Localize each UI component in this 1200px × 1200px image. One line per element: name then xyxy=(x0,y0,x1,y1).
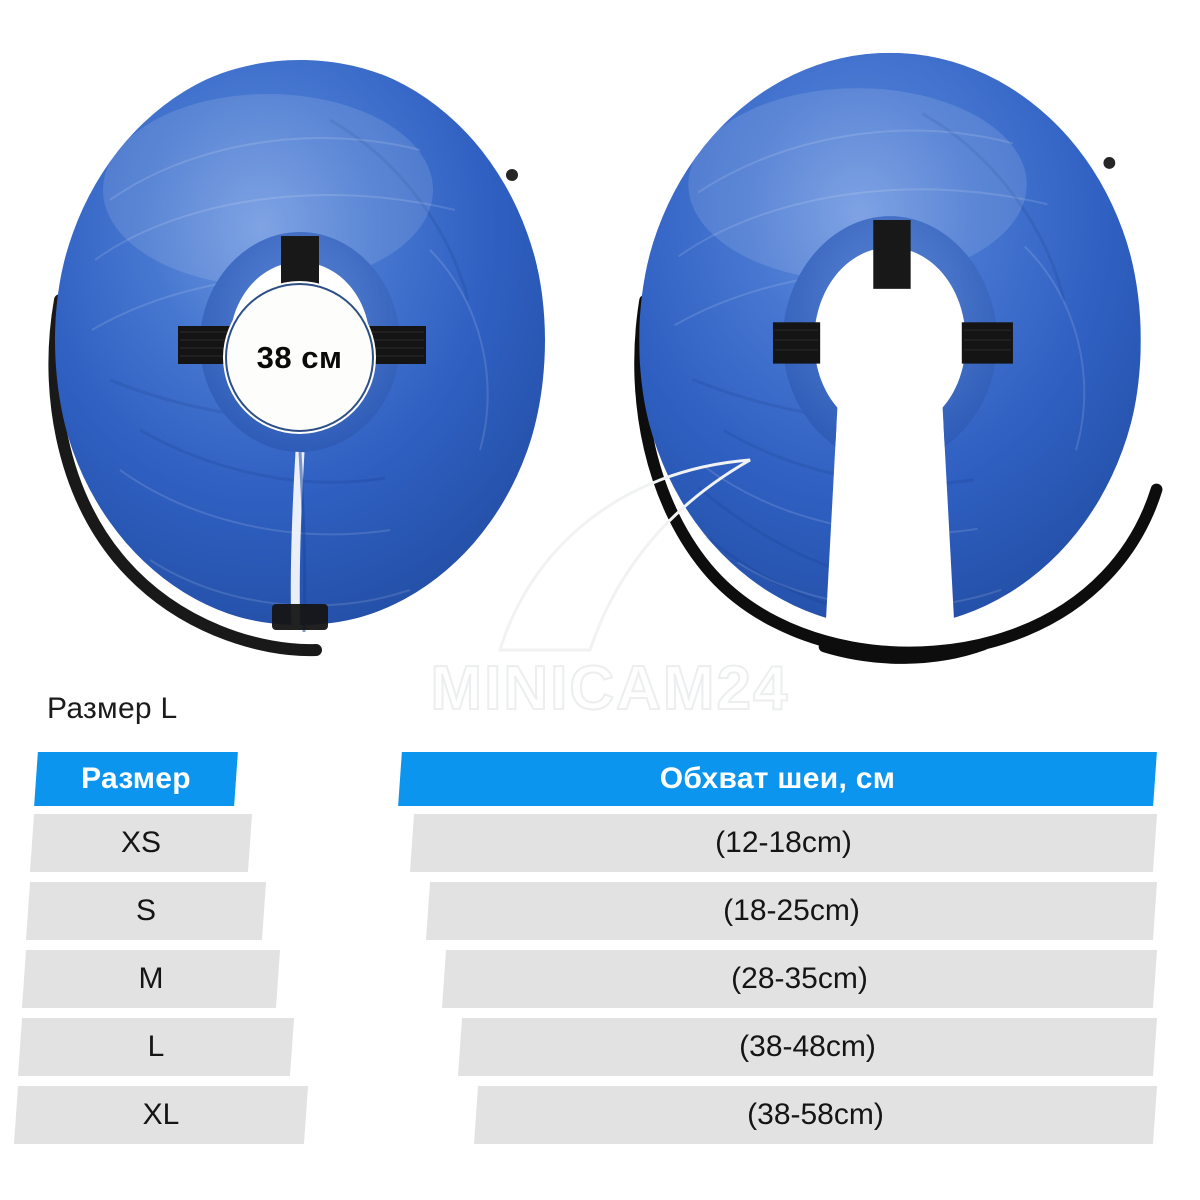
header-label-neck: Обхват шеи, см xyxy=(660,762,895,796)
velcro-strap-right xyxy=(962,322,1013,363)
row-cell-neck: (28-35cm) xyxy=(444,950,1155,1008)
header-label-size: Размер xyxy=(81,762,191,796)
table-row: L (38-48cm) xyxy=(0,1018,1200,1076)
header-cell-neck: Обхват шеи, см xyxy=(400,752,1155,806)
air-valve-icon xyxy=(1103,157,1115,169)
cell-value-neck: (28-35cm) xyxy=(731,962,868,996)
cell-value-size: XL xyxy=(143,1098,180,1132)
velcro-strap-bottom xyxy=(272,604,328,630)
row-cell-neck: (18-25cm) xyxy=(428,882,1155,940)
collar-body xyxy=(638,53,1142,627)
velcro-strap-left xyxy=(773,322,820,363)
measurement-badge-left: 38 см xyxy=(225,283,374,432)
row-cell-size: XL xyxy=(16,1086,306,1144)
row-cell-neck: (38-48cm) xyxy=(460,1018,1155,1076)
cell-value-size: M xyxy=(139,962,164,996)
row-cell-size: M xyxy=(24,950,278,1008)
air-valve-icon xyxy=(506,169,518,181)
row-cell-size: S xyxy=(28,882,264,940)
row-cell-neck: (12-18cm) xyxy=(412,814,1155,872)
cell-value-neck: (38-58cm) xyxy=(747,1098,884,1132)
table-header-row: Размер Обхват шеи, см xyxy=(0,752,1200,806)
table-row: M (28-35cm) xyxy=(0,950,1200,1008)
table-row: XL (38-58cm) xyxy=(0,1086,1200,1144)
cell-value-size: L xyxy=(148,1030,165,1064)
size-chart-table: Размер Обхват шеи, см XS (12-18cm) S (18… xyxy=(0,752,1200,1164)
product-image-right: 48см xyxy=(590,0,1190,680)
table-row: XS (12-18cm) xyxy=(0,814,1200,872)
size-section-title: Размер L xyxy=(47,692,178,726)
row-cell-neck: (38-58cm) xyxy=(476,1086,1155,1144)
cell-value-neck: (12-18cm) xyxy=(715,826,852,860)
table-row: S (18-25cm) xyxy=(0,882,1200,940)
cell-value-size: S xyxy=(136,894,156,928)
product-photo-area: 38 см xyxy=(0,0,1200,680)
header-cell-size: Размер xyxy=(36,752,236,806)
product-image-left: 38 см xyxy=(0,0,600,680)
collar-open-illustration xyxy=(590,0,1190,680)
cell-value-neck: (18-25cm) xyxy=(723,894,860,928)
row-cell-size: XS xyxy=(32,814,250,872)
cell-value-neck: (38-48cm) xyxy=(739,1030,876,1064)
row-cell-size: L xyxy=(20,1018,292,1076)
cell-value-size: XS xyxy=(121,826,161,860)
velcro-strap-top xyxy=(873,220,910,289)
